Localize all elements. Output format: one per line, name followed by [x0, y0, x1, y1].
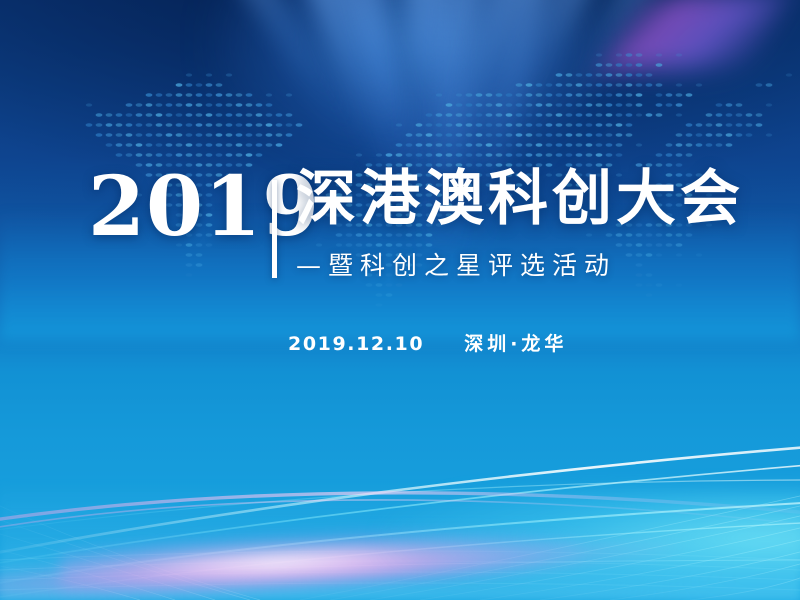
event-date: 2019.12.10	[288, 333, 424, 355]
event-location: 深圳·龙华	[464, 329, 567, 356]
year-text: 2019	[88, 166, 320, 248]
event-poster: 2019 深港澳科创大会 —暨科创之星评选活动 2019.12.10 深圳·龙华	[0, 0, 800, 600]
event-title: 深港澳科创大会	[296, 168, 744, 231]
vertical-divider	[272, 180, 277, 278]
event-subtitle: —暨科创之星评选活动	[296, 252, 616, 280]
event-meta: 2019.12.10 深圳·龙华	[288, 329, 567, 356]
title-lockup: 2019 深港澳科创大会 —暨科创之星评选活动 2019.12.10 深圳·龙华	[0, 0, 800, 600]
